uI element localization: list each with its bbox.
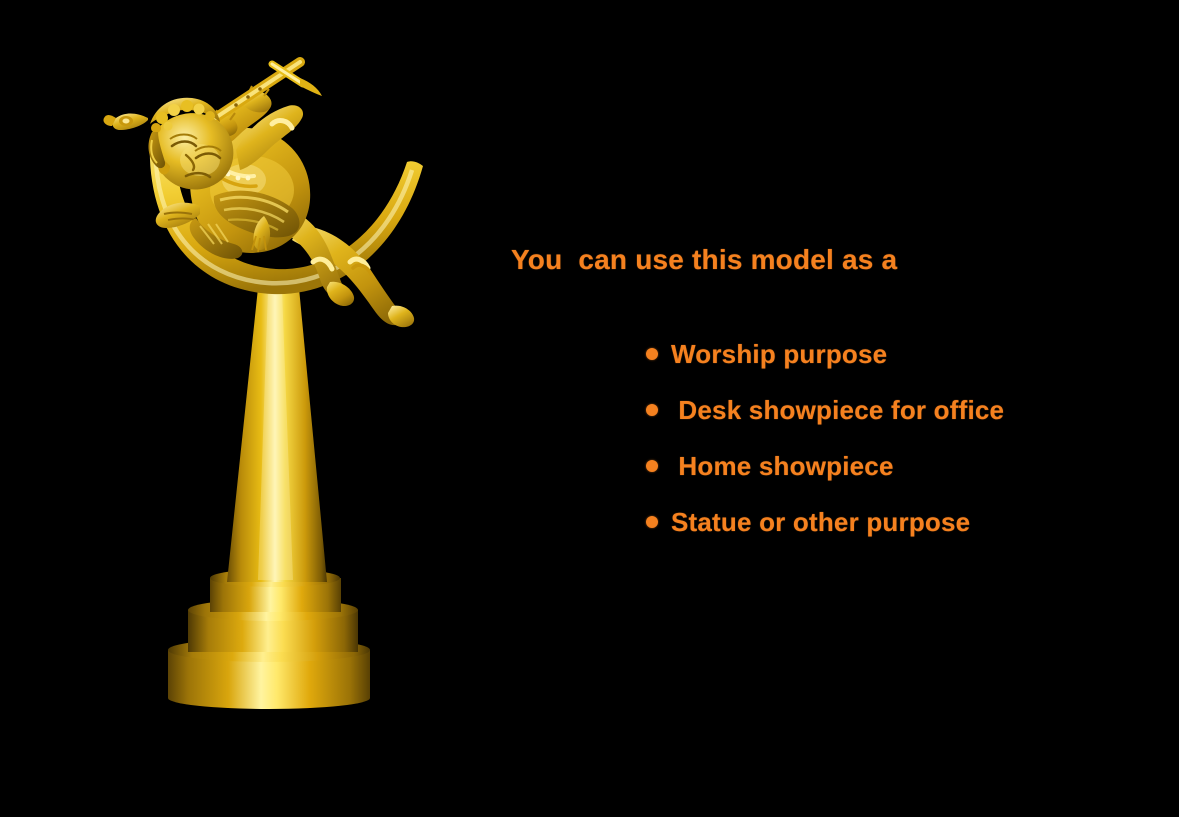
bullet-icon (646, 404, 658, 416)
bullet-icon (646, 348, 658, 360)
benefit-list: Worship purpose Desk showpiece for offic… (505, 326, 1125, 550)
list-item: Statue or other purpose (505, 494, 1125, 550)
bullet-icon (646, 460, 658, 472)
list-item-label: Worship purpose (671, 339, 887, 369)
list-item: Desk showpiece for office (505, 382, 1125, 438)
krishna-statue-artwork (0, 0, 470, 720)
page-title: You can use this model as a (511, 243, 1125, 277)
slide-canvas: You can use this model as a Worship purp… (0, 0, 1179, 817)
list-item: Home showpiece (505, 438, 1125, 494)
list-item-label: Statue or other purpose (671, 507, 970, 537)
list-item-label: Desk showpiece for office (671, 395, 1004, 425)
tapered-column (227, 283, 327, 582)
list-item: Worship purpose (505, 326, 1125, 382)
statue-illustration (0, 0, 470, 720)
marketing-text-panel: You can use this model as a Worship purp… (505, 243, 1125, 550)
bullet-icon (646, 516, 658, 528)
krishna-left-foot (327, 282, 354, 306)
list-item-label: Home showpiece (671, 451, 894, 481)
